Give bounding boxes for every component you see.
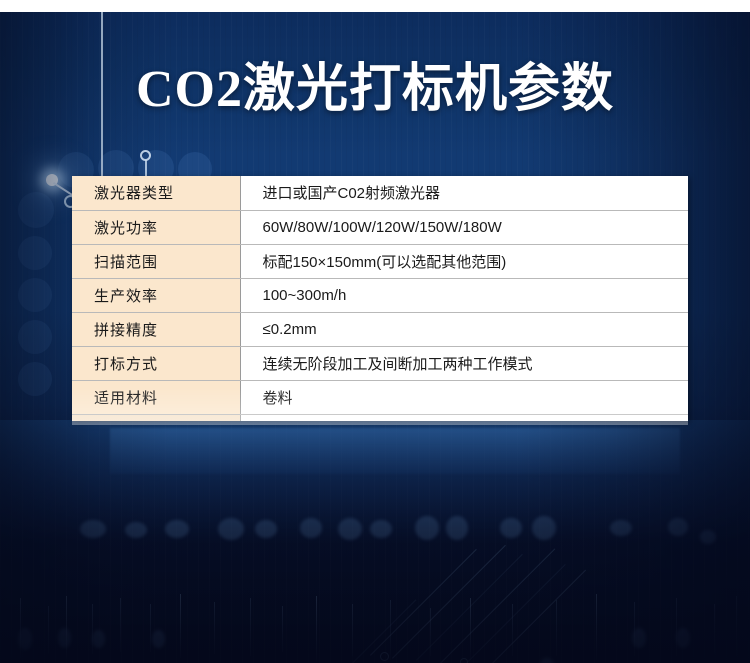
spec-label-cell: 拼接精度 xyxy=(72,312,240,346)
spec-value-cell: 卷料 xyxy=(240,380,688,414)
spec-label-cell: 扫描范围 xyxy=(72,244,240,278)
table-row: 激光器类型进口或国产C02射频激光器 xyxy=(72,176,688,210)
page-title: CO2激光打标机参数 xyxy=(0,58,750,122)
spec-table: 激光器类型进口或国产C02射频激光器激光功率60W/80W/100W/120W/… xyxy=(72,176,688,421)
spec-label-cell: 激光器类型 xyxy=(72,176,240,210)
spec-value-cell: 标配150×150mm(可以选配其他范围) xyxy=(240,244,688,278)
top-white-strip xyxy=(0,0,750,12)
spec-value-cell-footer xyxy=(240,414,688,421)
table-row: 激光功率60W/80W/100W/120W/150W/180W xyxy=(72,210,688,244)
spec-value-cell: 60W/80W/100W/120W/150W/180W xyxy=(240,210,688,244)
table-row-footer xyxy=(72,414,688,421)
table-row: 生产效率100~300m/h xyxy=(72,278,688,312)
spec-label-cell: 打标方式 xyxy=(72,346,240,380)
spec-label-cell-footer xyxy=(72,414,240,421)
spec-value-cell: 100~300m/h xyxy=(240,278,688,312)
table-row: 适用材料卷料 xyxy=(72,380,688,414)
table-row: 打标方式连续无阶段加工及间断加工两种工作模式 xyxy=(72,346,688,380)
spec-value-cell: 连续无阶段加工及间断加工两种工作模式 xyxy=(240,346,688,380)
background-bottom-vignette xyxy=(0,403,750,663)
spec-label-cell: 适用材料 xyxy=(72,380,240,414)
spec-label-cell: 生产效率 xyxy=(72,278,240,312)
table-row: 拼接精度≤0.2mm xyxy=(72,312,688,346)
table-row: 扫描范围标配150×150mm(可以选配其他范围) xyxy=(72,244,688,278)
spec-label-cell: 激光功率 xyxy=(72,210,240,244)
spec-value-cell: ≤0.2mm xyxy=(240,312,688,346)
spec-value-cell: 进口或国产C02射频激光器 xyxy=(240,176,688,210)
product-spec-banner: CO2激光打标机参数 激光器类型进口或国产C02射频激光器激光功率60W/80W… xyxy=(0,0,750,663)
